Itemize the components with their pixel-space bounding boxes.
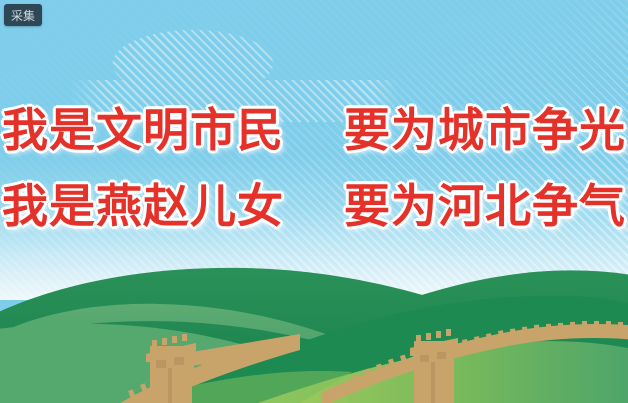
slogan-line-2: 我是燕赵儿女 要为河北争气 — [0, 168, 628, 244]
slogan-line-1: 我是文明市民 要为城市争光 — [0, 92, 628, 168]
slogan-line-2-left: 我是燕赵儿女 — [2, 179, 284, 233]
slogan-line-2-right: 要为河北争气 — [344, 179, 626, 233]
slogan-line-1-right: 要为城市争光 — [344, 103, 626, 157]
capture-button[interactable]: 采集 — [4, 4, 42, 26]
slogan-text-block: 我是文明市民 要为城市争光 我是燕赵儿女 要为河北争气 — [0, 92, 628, 244]
slogan-line-1-left: 我是文明市民 — [2, 103, 284, 157]
poster-image: 我是文明市民 要为城市争光 我是燕赵儿女 要为河北争气 采集 — [0, 0, 628, 403]
